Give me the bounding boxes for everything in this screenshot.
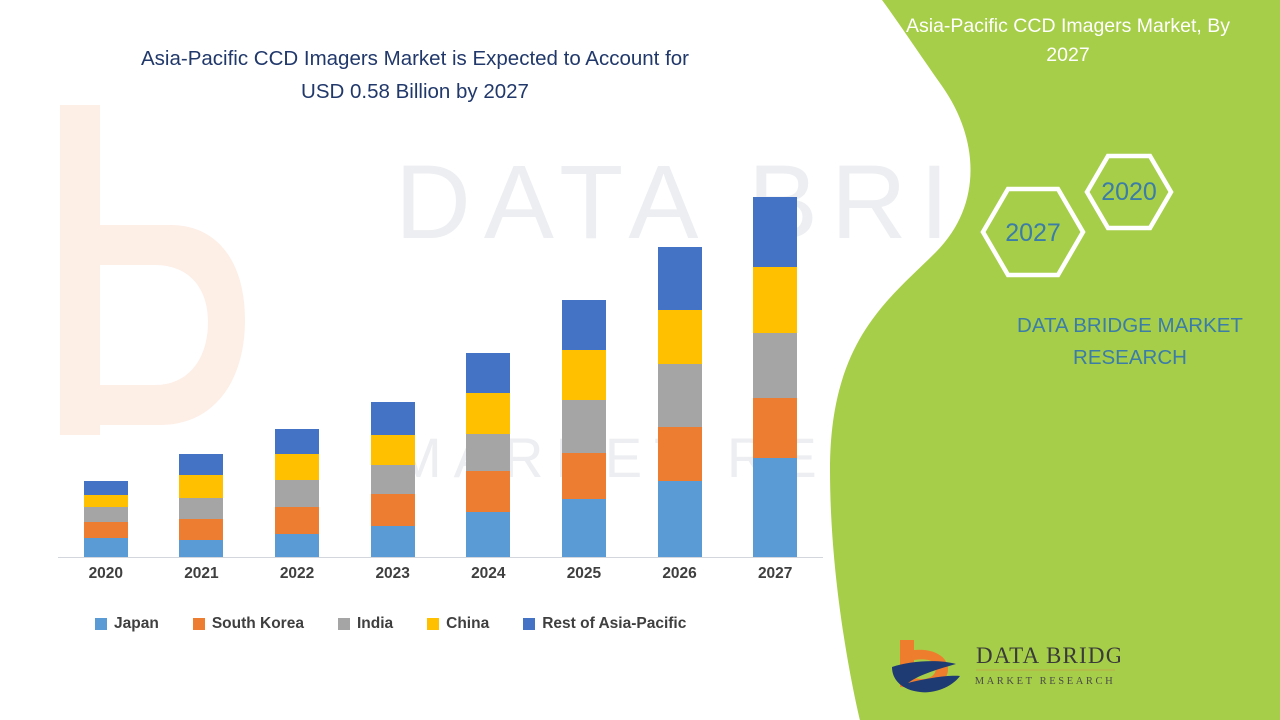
x-axis-tick-label: 2023	[345, 565, 441, 583]
stacked-bar[interactable]	[562, 300, 606, 557]
bar-group	[632, 140, 728, 557]
bar-groups	[58, 140, 823, 557]
chart-title: Asia-Pacific CCD Imagers Market is Expec…	[85, 42, 745, 108]
x-axis-tick-label: 2027	[727, 565, 823, 583]
brand-panel-title-line-1: Asia-Pacific CCD Imagers Market, By	[906, 15, 1230, 37]
bar-segment[interactable]	[179, 540, 223, 557]
bar-segment[interactable]	[562, 453, 606, 498]
bar-segment[interactable]	[179, 454, 223, 476]
stacked-bar[interactable]	[371, 402, 415, 557]
x-axis-tick-label: 2026	[632, 565, 728, 583]
bar-segment[interactable]	[753, 197, 797, 267]
legend-label: Japan	[114, 615, 159, 633]
hexagon-2027-label: 2027	[1005, 219, 1061, 247]
bar-segment[interactable]	[753, 333, 797, 399]
legend-item[interactable]: Rest of Asia-Pacific	[523, 615, 686, 633]
legend-label: China	[446, 615, 489, 633]
logo-mark-icon	[892, 640, 960, 692]
legend-label: South Korea	[212, 615, 304, 633]
bar-group	[536, 140, 632, 557]
stacked-bar[interactable]	[753, 197, 797, 557]
bar-group	[345, 140, 441, 557]
bar-segment[interactable]	[275, 507, 319, 534]
legend-label: Rest of Asia-Pacific	[542, 615, 686, 633]
bar-segment[interactable]	[466, 512, 510, 557]
brand-panel-title-line-2: 2027	[1046, 44, 1089, 66]
brand-name-text: DATA BRIDGE MARKET RESEARCH	[970, 310, 1280, 375]
bar-segment[interactable]	[371, 494, 415, 526]
bar-segment[interactable]	[562, 350, 606, 400]
legend-swatch	[427, 618, 439, 630]
hexagon-badges: 2020 2027	[975, 148, 1185, 293]
bar-segment[interactable]	[84, 507, 128, 521]
bar-segment[interactable]	[562, 400, 606, 453]
bar-segment[interactable]	[371, 402, 415, 435]
legend-item[interactable]: China	[427, 615, 489, 633]
bar-segment[interactable]	[753, 458, 797, 557]
brand-name-line-1: DATA BRIDGE MARKET	[1017, 314, 1243, 337]
bar-group	[727, 140, 823, 557]
bar-segment[interactable]	[466, 471, 510, 511]
bar-segment[interactable]	[466, 393, 510, 434]
bar-segment[interactable]	[753, 398, 797, 458]
bar-segment[interactable]	[84, 481, 128, 495]
x-axis-tick-label: 2022	[249, 565, 345, 583]
bar-group	[154, 140, 250, 557]
bar-segment[interactable]	[179, 519, 223, 541]
bar-group	[249, 140, 345, 557]
stacked-bar[interactable]	[84, 481, 128, 557]
hexagon-2020-label: 2020	[1101, 178, 1157, 206]
stacked-bar[interactable]	[658, 247, 702, 557]
bar-segment[interactable]	[275, 480, 319, 507]
company-logo: DATA BRIDGE MARKET RESEARCH	[890, 637, 1120, 699]
brand-panel-title: Asia-Pacific CCD Imagers Market, By 2027	[866, 12, 1270, 71]
bar-segment[interactable]	[753, 267, 797, 332]
x-axis-tick-label: 2024	[441, 565, 537, 583]
legend-swatch	[95, 618, 107, 630]
x-axis-line	[58, 557, 823, 558]
stacked-bar[interactable]	[275, 429, 319, 557]
x-axis-labels: 20202021202220232024202520262027	[58, 565, 823, 583]
bar-segment[interactable]	[466, 353, 510, 393]
bar-segment[interactable]	[371, 465, 415, 494]
bar-segment[interactable]	[275, 454, 319, 479]
logo-name-text: DATA BRIDGE	[976, 643, 1120, 668]
bar-segment[interactable]	[658, 247, 702, 310]
bar-segment[interactable]	[658, 364, 702, 427]
bar-segment[interactable]	[179, 498, 223, 519]
bar-segment[interactable]	[466, 434, 510, 472]
bar-segment[interactable]	[658, 310, 702, 365]
chart-page: DATA BRIDGE MARKET RESEARCH Asia-Pacific…	[0, 0, 1280, 720]
x-axis-tick-label: 2020	[58, 565, 154, 583]
bar-segment[interactable]	[658, 427, 702, 480]
legend-label: India	[357, 615, 393, 633]
stacked-bar[interactable]	[179, 454, 223, 558]
bar-segment[interactable]	[275, 429, 319, 454]
stacked-bar[interactable]	[466, 353, 510, 557]
legend-swatch	[523, 618, 535, 630]
legend-item[interactable]: Japan	[95, 615, 159, 633]
x-axis-tick-label: 2025	[536, 565, 632, 583]
legend-swatch	[338, 618, 350, 630]
legend-swatch	[193, 618, 205, 630]
plot-area	[58, 140, 823, 558]
bar-segment[interactable]	[371, 435, 415, 465]
chart-title-line-1: Asia-Pacific CCD Imagers Market is Expec…	[141, 47, 689, 70]
bar-segment[interactable]	[179, 475, 223, 497]
bar-segment[interactable]	[658, 481, 702, 557]
chart-legend: JapanSouth KoreaIndiaChinaRest of Asia-P…	[95, 615, 795, 633]
bar-group	[58, 140, 154, 557]
bar-segment[interactable]	[562, 499, 606, 557]
bar-segment[interactable]	[84, 522, 128, 538]
bar-group	[441, 140, 537, 557]
bar-segment[interactable]	[371, 526, 415, 557]
bar-segment[interactable]	[84, 495, 128, 507]
bar-segment[interactable]	[275, 534, 319, 557]
x-axis-tick-label: 2021	[154, 565, 250, 583]
chart-title-line-2: USD 0.58 Billion by 2027	[301, 80, 529, 103]
bar-segment[interactable]	[562, 300, 606, 350]
legend-item[interactable]: South Korea	[193, 615, 304, 633]
bar-segment[interactable]	[84, 538, 128, 557]
brand-name-line-2: RESEARCH	[1073, 346, 1187, 369]
logo-tagline-text: MARKET RESEARCH	[975, 676, 1116, 687]
chart-panel: DATA BRIDGE MARKET RESEARCH Asia-Pacific…	[0, 0, 960, 720]
legend-item[interactable]: India	[338, 615, 393, 633]
